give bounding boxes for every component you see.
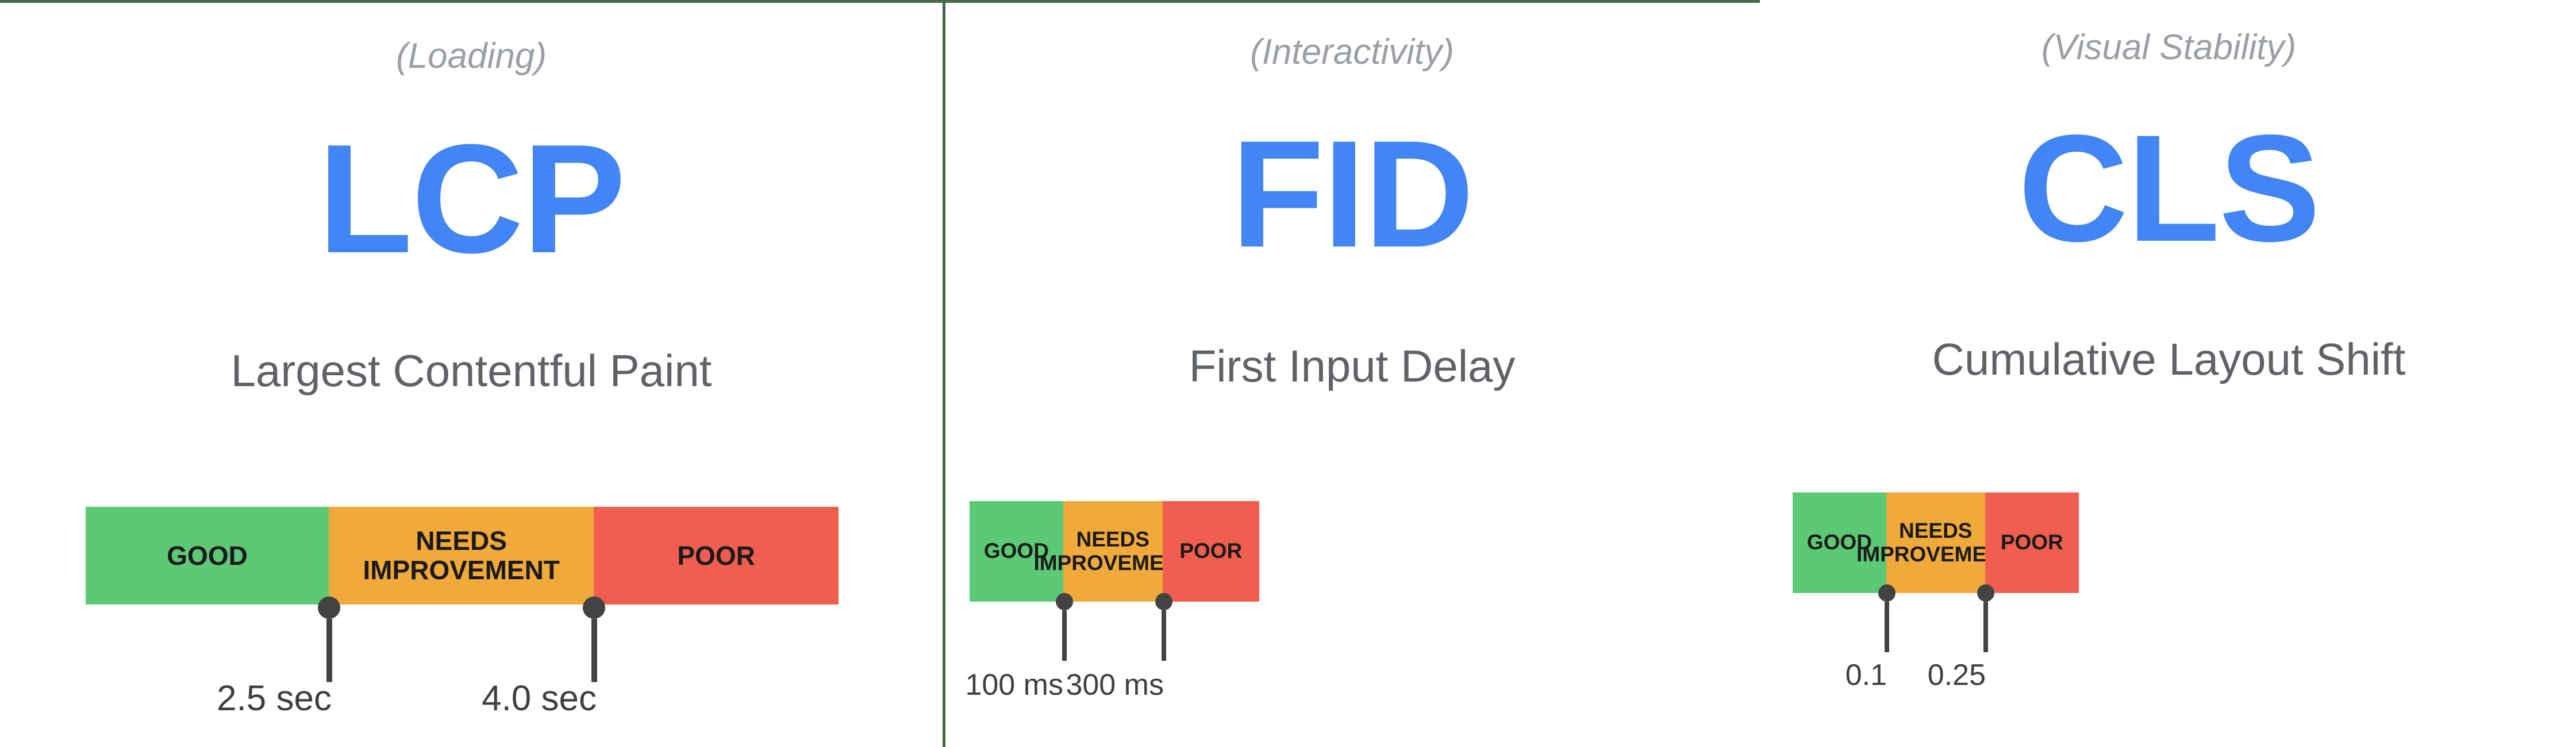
metric-panel-cls: (Visual Stability) CLS Cumulative Layout… bbox=[1762, 0, 2576, 747]
threshold-marker-stem bbox=[591, 619, 597, 682]
metric-category-label: (Interactivity) bbox=[943, 32, 1762, 72]
metric-panel-fid: (Interactivity) FID First Input Delay GO… bbox=[943, 0, 1762, 747]
threshold-segment-needs-improvement: NEEDS IMPROVEMENT bbox=[1886, 492, 1985, 593]
core-web-vitals-infographic: (Loading) LCP Largest Contentful Paint G… bbox=[0, 0, 2576, 747]
threshold-marker-stem bbox=[1983, 602, 1988, 652]
threshold-bar: GOOD NEEDS IMPROVEMENT POOR bbox=[86, 507, 839, 604]
metric-fullname: Cumulative Layout Shift bbox=[1762, 333, 2576, 386]
metric-panels: (Loading) LCP Largest Contentful Paint G… bbox=[0, 0, 2576, 747]
threshold-marker-1-label: 2.5 sec bbox=[90, 678, 332, 719]
threshold-marker-stem bbox=[1162, 610, 1166, 661]
threshold-marker-stem bbox=[1062, 610, 1067, 661]
threshold-marker-dot-icon bbox=[1155, 593, 1172, 610]
threshold-bar: GOOD NEEDS IMPROVEMENT POOR bbox=[970, 501, 1259, 602]
threshold-segment-poor: POOR bbox=[1163, 501, 1259, 602]
threshold-segment-good: GOOD bbox=[86, 507, 329, 604]
metric-panel-lcp: (Loading) LCP Largest Contentful Paint G… bbox=[0, 0, 943, 747]
threshold-segment-poor: POOR bbox=[1985, 492, 2079, 593]
threshold-segment-needs-improvement: NEEDS IMPROVEMENT bbox=[329, 507, 594, 604]
metric-category-label: (Loading) bbox=[0, 36, 943, 76]
threshold-segment-needs-improvement: NEEDS IMPROVEMENT bbox=[1063, 501, 1163, 602]
threshold-marker-2-label: 4.0 sec bbox=[355, 678, 597, 719]
threshold-marker-stem bbox=[326, 619, 332, 682]
threshold-marker-dot-icon bbox=[1878, 584, 1896, 602]
threshold-marker-2 bbox=[1155, 593, 1172, 661]
metric-fullname: Largest Contentful Paint bbox=[0, 345, 943, 397]
threshold-marker-1 bbox=[318, 596, 340, 682]
threshold-marker-dot-icon bbox=[1977, 584, 1994, 602]
threshold-marker-2-label: 0.25 bbox=[1790, 658, 1986, 692]
metric-category-label: (Visual Stability) bbox=[1762, 27, 2576, 68]
threshold-marker-2 bbox=[583, 596, 605, 682]
threshold-marker-dot-icon bbox=[318, 596, 340, 619]
threshold-bar: GOOD NEEDS IMPROVEMENT POOR bbox=[1793, 492, 2079, 593]
metric-fullname: First Input Delay bbox=[943, 340, 1762, 392]
threshold-marker-2 bbox=[1977, 584, 1994, 652]
threshold-marker-1 bbox=[1878, 584, 1896, 652]
threshold-marker-dot-icon bbox=[583, 596, 605, 619]
threshold-marker-1 bbox=[1056, 593, 1073, 661]
panel-divider-1 bbox=[943, 0, 945, 747]
metric-acronym: LCP bbox=[0, 122, 943, 277]
metric-acronym: FID bbox=[943, 118, 1762, 271]
threshold-segment-poor: POOR bbox=[594, 507, 839, 604]
threshold-marker-2-label: 300 ms bbox=[968, 668, 1164, 702]
metric-acronym: CLS bbox=[1762, 113, 2576, 265]
threshold-marker-dot-icon bbox=[1056, 593, 1073, 610]
threshold-marker-stem bbox=[1885, 602, 1889, 652]
